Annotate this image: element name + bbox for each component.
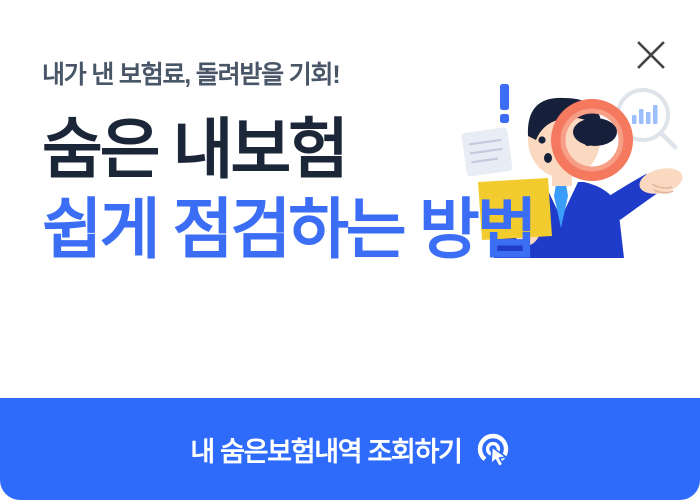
banner-subtitle: 내가 낸 보험료, 돌려받을 기회! — [42, 62, 534, 90]
banner-headline-line1: 숨은 내보험 — [42, 116, 534, 182]
cta-button[interactable]: 내 숨은보험내역 조회하기 — [0, 398, 700, 500]
copy-block: 내가 낸 보험료, 돌려받을 기회! 숨은 내보험 쉽게 점검하는 방법 — [42, 62, 534, 262]
banner-headline-line2: 쉽게 점검하는 방법 — [42, 196, 534, 262]
cta-label: 내 숨은보험내역 조회하기 — [190, 430, 461, 469]
magnifier-cursor-icon — [476, 432, 510, 466]
close-icon — [635, 39, 667, 71]
close-button[interactable] — [632, 36, 670, 74]
insurance-promo-banner: 내가 낸 보험료, 돌려받을 기회! 숨은 내보험 쉽게 점검하는 방법 — [0, 0, 700, 500]
